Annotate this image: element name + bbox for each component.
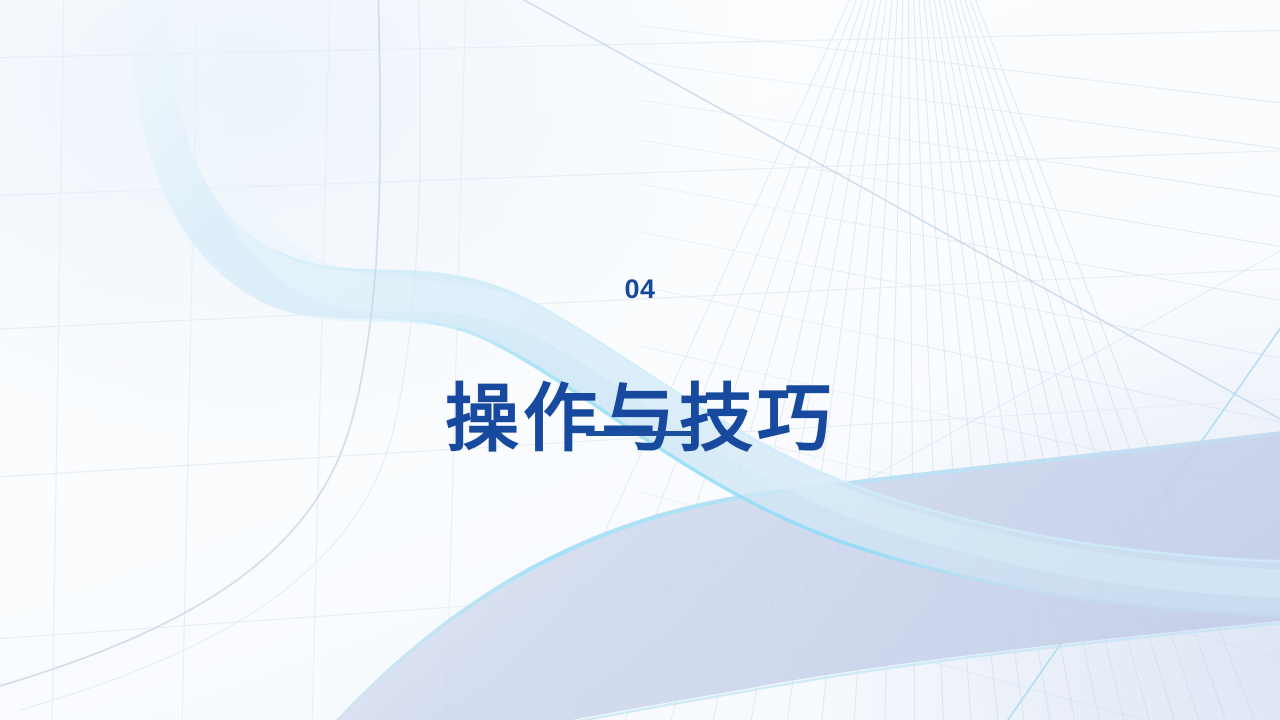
- title-divider: [586, 431, 694, 436]
- slide-canvas: 04 操作与技巧: [0, 0, 1280, 720]
- page-title: 操作与技巧: [0, 376, 1280, 462]
- background-wash: [0, 0, 1280, 720]
- section-number: 04: [0, 273, 1280, 305]
